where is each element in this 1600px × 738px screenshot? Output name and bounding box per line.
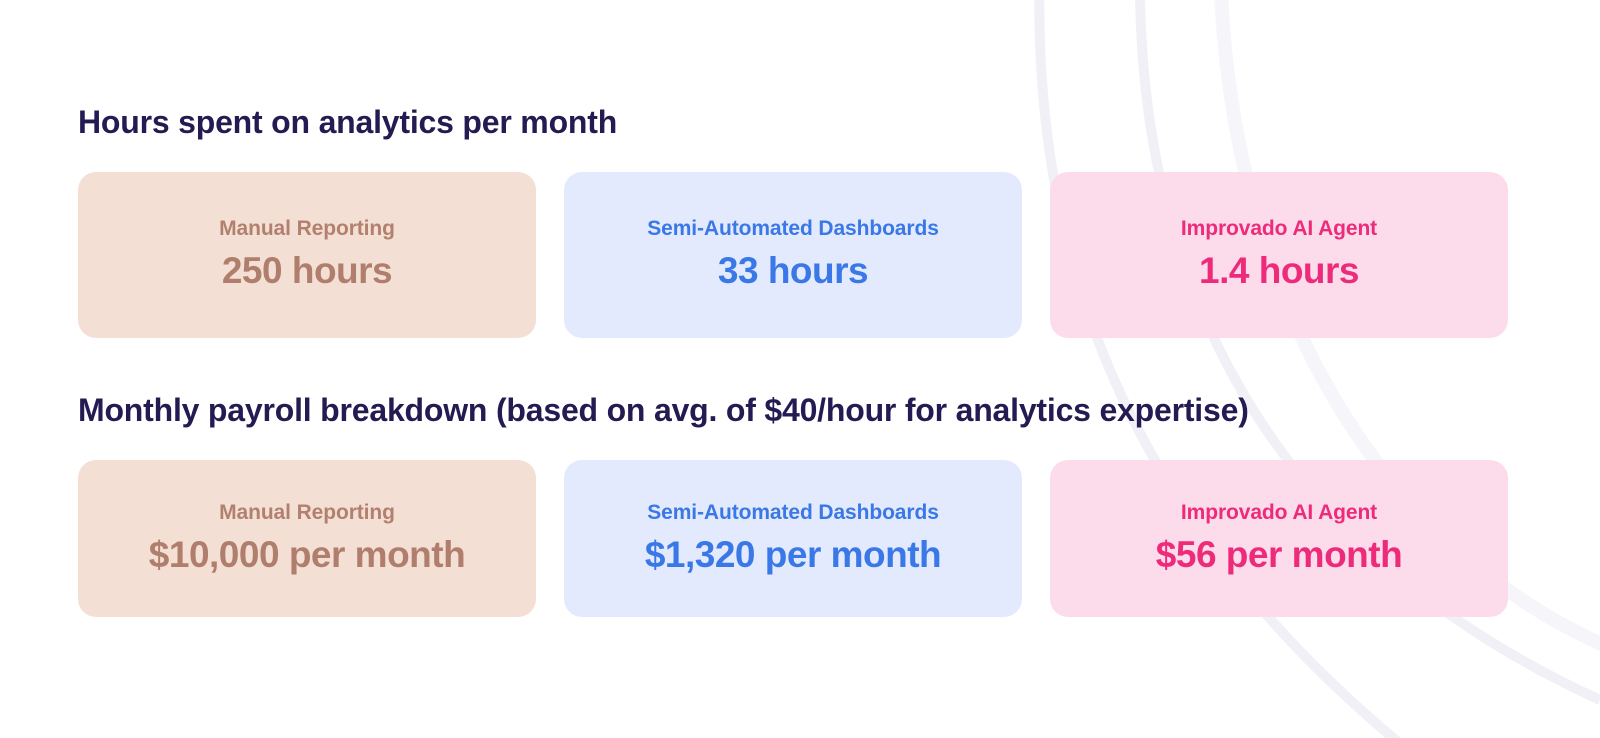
card-manual-hours: Manual Reporting 250 hours [78,172,536,338]
card-label: Semi-Automated Dashboards [647,216,939,242]
card-value: $10,000 per month [149,532,465,578]
card-value: $1,320 per month [645,532,941,578]
card-value: 250 hours [222,248,392,294]
card-semi-automated-hours: Semi-Automated Dashboards 33 hours [564,172,1022,338]
card-label: Manual Reporting [219,216,395,242]
card-row-hours: Manual Reporting 250 hours Semi-Automate… [78,172,1508,338]
card-manual-payroll: Manual Reporting $10,000 per month [78,460,536,617]
card-value: 1.4 hours [1199,248,1359,294]
section-hours: Hours spent on analytics per month Manua… [78,100,1508,338]
section-payroll-title: Monthly payroll breakdown (based on avg.… [78,388,1508,432]
infographic-page: Hours spent on analytics per month Manua… [0,0,1600,738]
card-value: $56 per month [1156,532,1402,578]
card-label: Improvado AI Agent [1181,216,1377,242]
section-hours-title: Hours spent on analytics per month [78,100,1508,144]
card-row-payroll: Manual Reporting $10,000 per month Semi-… [78,460,1508,617]
card-value: 33 hours [718,248,868,294]
card-label: Improvado AI Agent [1181,500,1377,526]
card-label: Manual Reporting [219,500,395,526]
card-improvado-hours: Improvado AI Agent 1.4 hours [1050,172,1508,338]
section-payroll: Monthly payroll breakdown (based on avg.… [78,388,1508,617]
card-semi-automated-payroll: Semi-Automated Dashboards $1,320 per mon… [564,460,1022,617]
card-improvado-payroll: Improvado AI Agent $56 per month [1050,460,1508,617]
card-label: Semi-Automated Dashboards [647,500,939,526]
